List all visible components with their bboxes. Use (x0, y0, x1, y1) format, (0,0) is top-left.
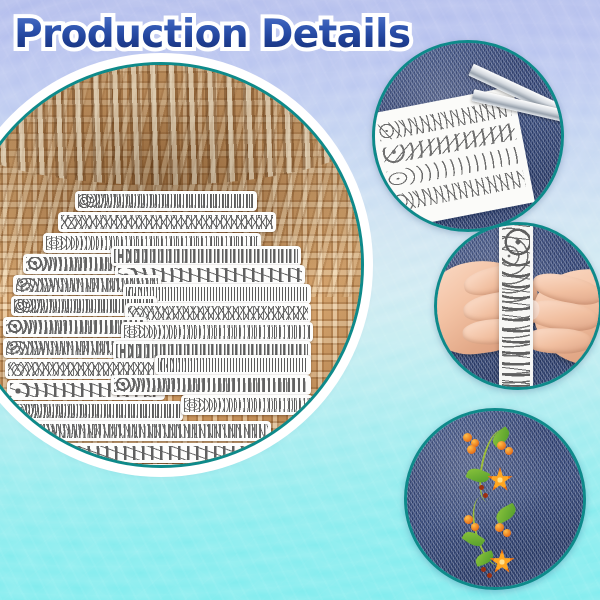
pattern-strip-trailing-floral-border (125, 303, 311, 323)
embroidery-berry (467, 445, 476, 454)
page-title-fill: Production Details (14, 13, 411, 57)
pattern-motif-leafy-vine-border (61, 215, 273, 229)
pattern-strip-stack (0, 65, 361, 465)
pattern-motif-ivy-leaf-border (8, 362, 154, 376)
embroidery-french-knot (479, 485, 484, 490)
pattern-strip-petal-cluster-border (181, 395, 313, 415)
pattern-motif-fern-scroll-border (18, 424, 268, 438)
pattern-strip-small-bloom-border (5, 401, 183, 421)
embroidery-french-knot (487, 573, 492, 578)
pattern-motif-looped-ribbon-border (158, 358, 308, 372)
embroidery-berry (464, 515, 473, 524)
infographic-canvas: Production Details Production Details (0, 0, 600, 600)
pattern-strip-on-fabric (499, 222, 533, 390)
pattern-motif-star-flower-border (114, 378, 308, 392)
pattern-motif-cloud-petal-border (114, 249, 298, 263)
pattern-motif-small-bloom-border (8, 404, 180, 418)
embroidery-french-knot (481, 567, 486, 572)
pattern-strip-leafy-vine-border (58, 212, 276, 232)
pattern-strip-looped-ribbon-border (155, 355, 311, 375)
pattern-strip-fern-scroll-border (15, 421, 271, 441)
pattern-motif-daisy-chain-border (78, 194, 254, 208)
embroidery-berry (471, 523, 479, 531)
embroidery-berry (503, 529, 511, 537)
embroidery-berry (505, 447, 513, 455)
pattern-motif-acanthus-leaf-border (124, 325, 310, 339)
step-panel-cut-out-pattern (372, 40, 564, 232)
pattern-strip-filigree-arch-border (41, 443, 265, 463)
pattern-strip-cloud-petal-border (111, 246, 301, 266)
main-product-photo (0, 62, 364, 468)
pattern-motif-filigree-arch-border (44, 446, 262, 460)
step-panel-finished-embroidery (404, 408, 586, 590)
pattern-motif-petal-cluster-border (184, 398, 310, 412)
pattern-strip-star-flower-border (111, 375, 311, 395)
page-title: Production Details Production Details (14, 13, 411, 57)
step-panel-place-strip (434, 222, 600, 390)
embroidery-french-knot (483, 493, 488, 498)
pattern-strip-daisy-chain-border (75, 191, 257, 211)
pattern-motif-trailing-floral-border (128, 306, 308, 320)
